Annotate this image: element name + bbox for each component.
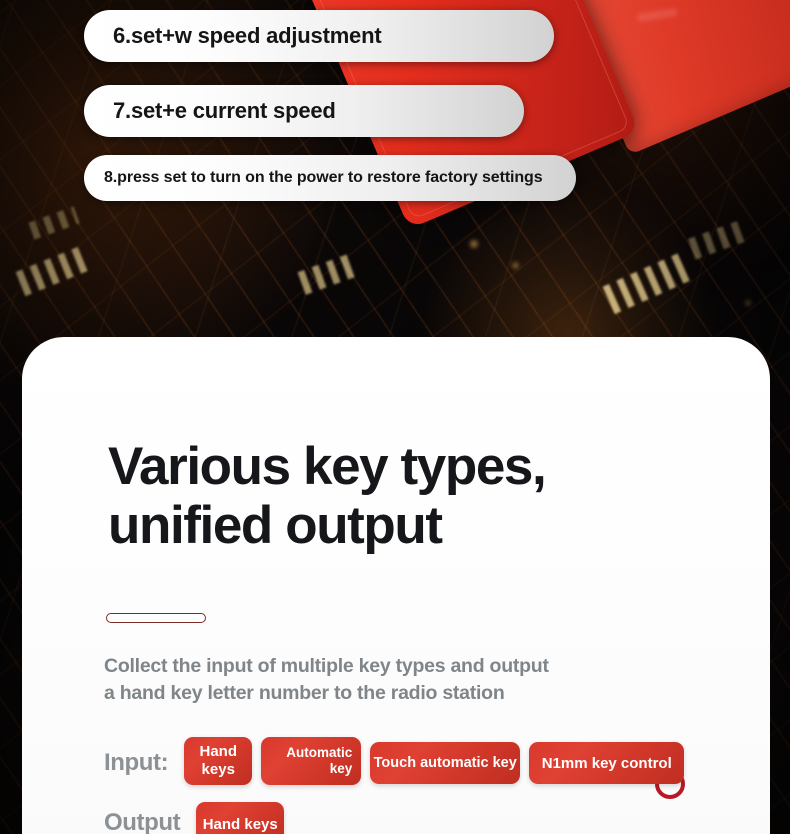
instruction-pill: 8.press set to turn on the power to rest… [84, 155, 576, 201]
instruction-pill: 7.set+e current speed [84, 85, 524, 137]
output-chip-hand-keys[interactable]: Hand keys [196, 802, 284, 834]
output-row-label: Output [104, 802, 180, 834]
subtitle-line-2: a hand key letter number to the radio st… [104, 680, 724, 707]
instruction-pill: 6.set+w speed adjustment [84, 10, 554, 62]
section-divider [106, 613, 206, 623]
input-chip-n1mm-key-control[interactable]: N1mm key control [529, 742, 684, 784]
section-subtitle: Collect the input of multiple key types … [104, 653, 724, 707]
output-row: Output Hand keys [104, 802, 293, 834]
input-chip-automatic-key[interactable]: Automatic key [261, 737, 361, 785]
instruction-pill-label: 7.set+e current speed [84, 98, 336, 124]
content-card: Various key types, unified output Collec… [22, 337, 770, 834]
page-title: Various key types, unified output [108, 437, 545, 556]
subtitle-line-1: Collect the input of multiple key types … [104, 655, 549, 677]
input-row: Input: Hand keys Automatic key Touch aut… [104, 737, 693, 785]
input-chip-group: Hand keys Automatic key Touch automatic … [184, 737, 693, 785]
input-row-label: Input: [104, 737, 168, 775]
instruction-pill-label: 6.set+w speed adjustment [84, 23, 381, 49]
headline-line-2: unified output [108, 496, 545, 555]
headline-line-1: Various key types, [108, 437, 545, 496]
instruction-pill-label: 8.press set to turn on the power to rest… [84, 169, 543, 187]
input-chip-touch-automatic-key[interactable]: Touch automatic key [370, 742, 520, 784]
output-chip-group: Hand keys [196, 802, 293, 834]
input-chip-hand-keys[interactable]: Hand keys [184, 737, 252, 785]
